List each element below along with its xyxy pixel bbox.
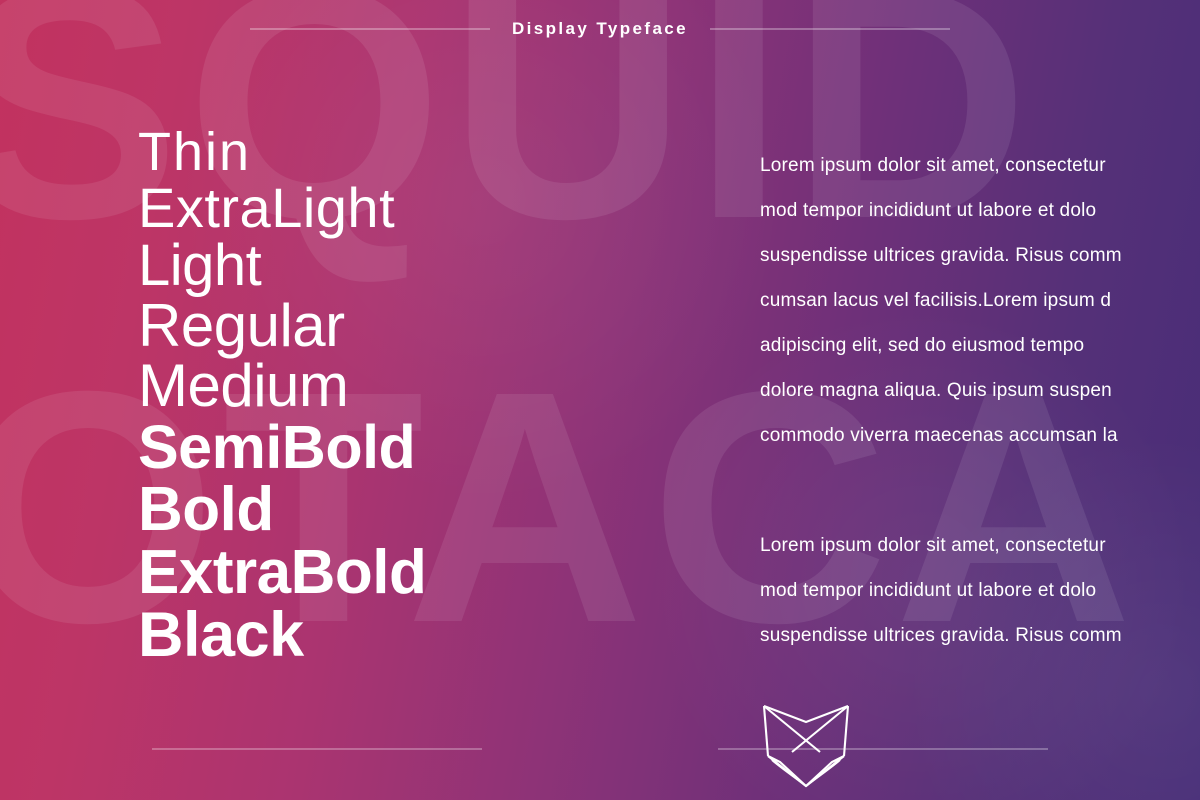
footer-bar [0,736,1200,762]
weight-row-black: Black [138,605,698,667]
specimen-paragraph-one: Lorem ipsum dolor sit amet, consecteturm… [760,143,1200,458]
weight-row-extralight: ExtraLight [138,181,698,236]
weight-row-medium: Medium [138,357,698,416]
header-bar: Display Typeface [0,16,1200,42]
specimen-canvas: SQUID OTACA Display Typeface ThinExtraLi… [0,0,1200,800]
header-rule-right [710,28,950,30]
weight-row-extrabold: ExtraBold [138,543,698,604]
paragraph-two-line: suspendisse ultrices gravida. Risus comm [760,613,1200,658]
weight-row-regular: Regular [138,297,698,356]
page-title: Display Typeface [512,19,688,39]
weight-row-light: Light [138,238,698,295]
paragraph-two-line: Lorem ipsum dolor sit amet, consectetur [760,523,1200,568]
weight-row-thin: Thin [138,126,698,179]
fox-head-logo-icon [750,700,862,788]
weight-row-semibold: SemiBold [138,418,698,478]
paragraph-one-line: commodo viverra maecenas accumsan la [760,413,1200,458]
header-rule-left [250,28,490,30]
paragraph-one-line: suspendisse ultrices gravida. Risus comm [760,233,1200,278]
paragraph-one-line: mod tempor incididunt ut labore et dolo [760,188,1200,233]
specimen-paragraph-two: Lorem ipsum dolor sit amet, consecteturm… [760,523,1200,658]
paragraph-one-line: adipiscing elit, sed do eiusmod tempo [760,323,1200,368]
paragraph-one-line: Lorem ipsum dolor sit amet, consectetur [760,143,1200,188]
weight-row-bold: Bold [138,480,698,541]
paragraph-two-line: mod tempor incididunt ut labore et dolo [760,568,1200,613]
paragraph-one-line: dolore magna aliqua. Quis ipsum suspen [760,368,1200,413]
paragraph-one-line: cumsan lacus vel facilisis.Lorem ipsum d [760,278,1200,323]
footer-rule-left [152,748,482,750]
weight-list: ThinExtraLightLightRegularMediumSemiBold… [138,126,698,669]
